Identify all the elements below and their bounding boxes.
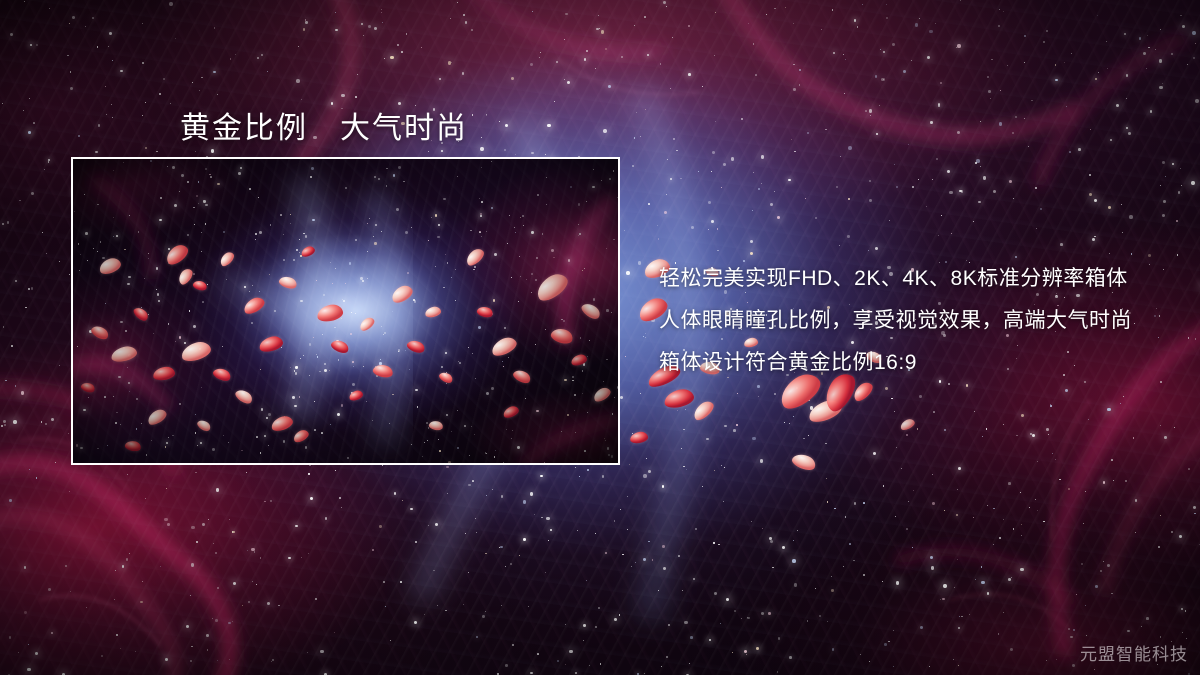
body-copy: 轻松完美实现FHD、2K、4K、8K标准分辨率箱体 人体眼睛瞳孔比例，享受视觉效… <box>659 258 1159 384</box>
body-line-3: 箱体设计符合黄金比例16:9 <box>659 342 1159 384</box>
framed-photo-vignette <box>73 159 618 463</box>
framed-photo[interactable] <box>71 157 620 465</box>
watermark: 元盟智能科技 <box>1080 640 1188 665</box>
slide-canvas: 黄金比例 大气时尚 轻松完美实现FHD、2K、4K、8K标准分辨率箱体 人体眼睛… <box>0 0 1200 675</box>
page-title: 黄金比例 大气时尚 <box>180 103 468 147</box>
framed-photo-inner <box>73 159 618 463</box>
body-line-2: 人体眼睛瞳孔比例，享受视觉效果，高端大气时尚 <box>659 300 1159 342</box>
body-line-1: 轻松完美实现FHD、2K、4K、8K标准分辨率箱体 <box>659 258 1159 300</box>
